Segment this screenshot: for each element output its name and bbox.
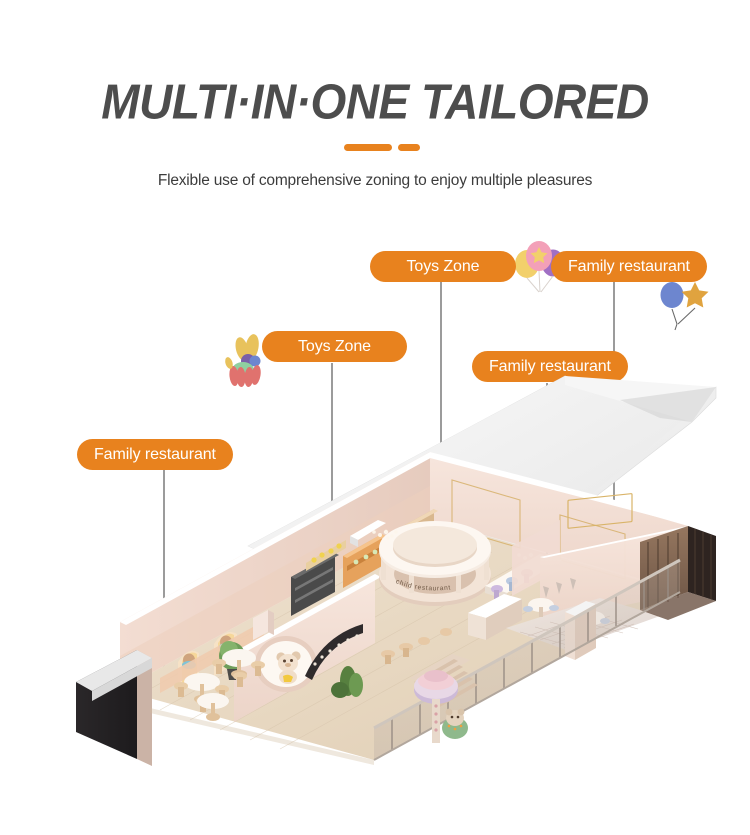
title-divider xyxy=(0,144,750,153)
divider-bar-short xyxy=(398,144,420,151)
callout-family-restaurant-right[interactable]: Family restaurant xyxy=(551,251,707,282)
callout-label: Toys Zone xyxy=(298,339,371,355)
page-subtitle: Flexible use of comprehensive zoning to … xyxy=(0,170,750,192)
page-root: MULTI·IN·ONE TAILORED Flexible use of co… xyxy=(0,0,750,835)
callout-toys-zone-right[interactable]: Toys Zone xyxy=(370,251,516,282)
callout-label: Family restaurant xyxy=(568,259,690,275)
isometric-scene: child restaurant xyxy=(0,360,750,780)
balloon-blue-star-icon xyxy=(655,280,713,332)
page-title: MULTI·IN·ONE TAILORED xyxy=(0,74,750,129)
callout-label: Toys Zone xyxy=(407,259,480,275)
divider-bar-long xyxy=(344,144,392,151)
callout-toys-zone-left[interactable]: Toys Zone xyxy=(262,331,407,362)
